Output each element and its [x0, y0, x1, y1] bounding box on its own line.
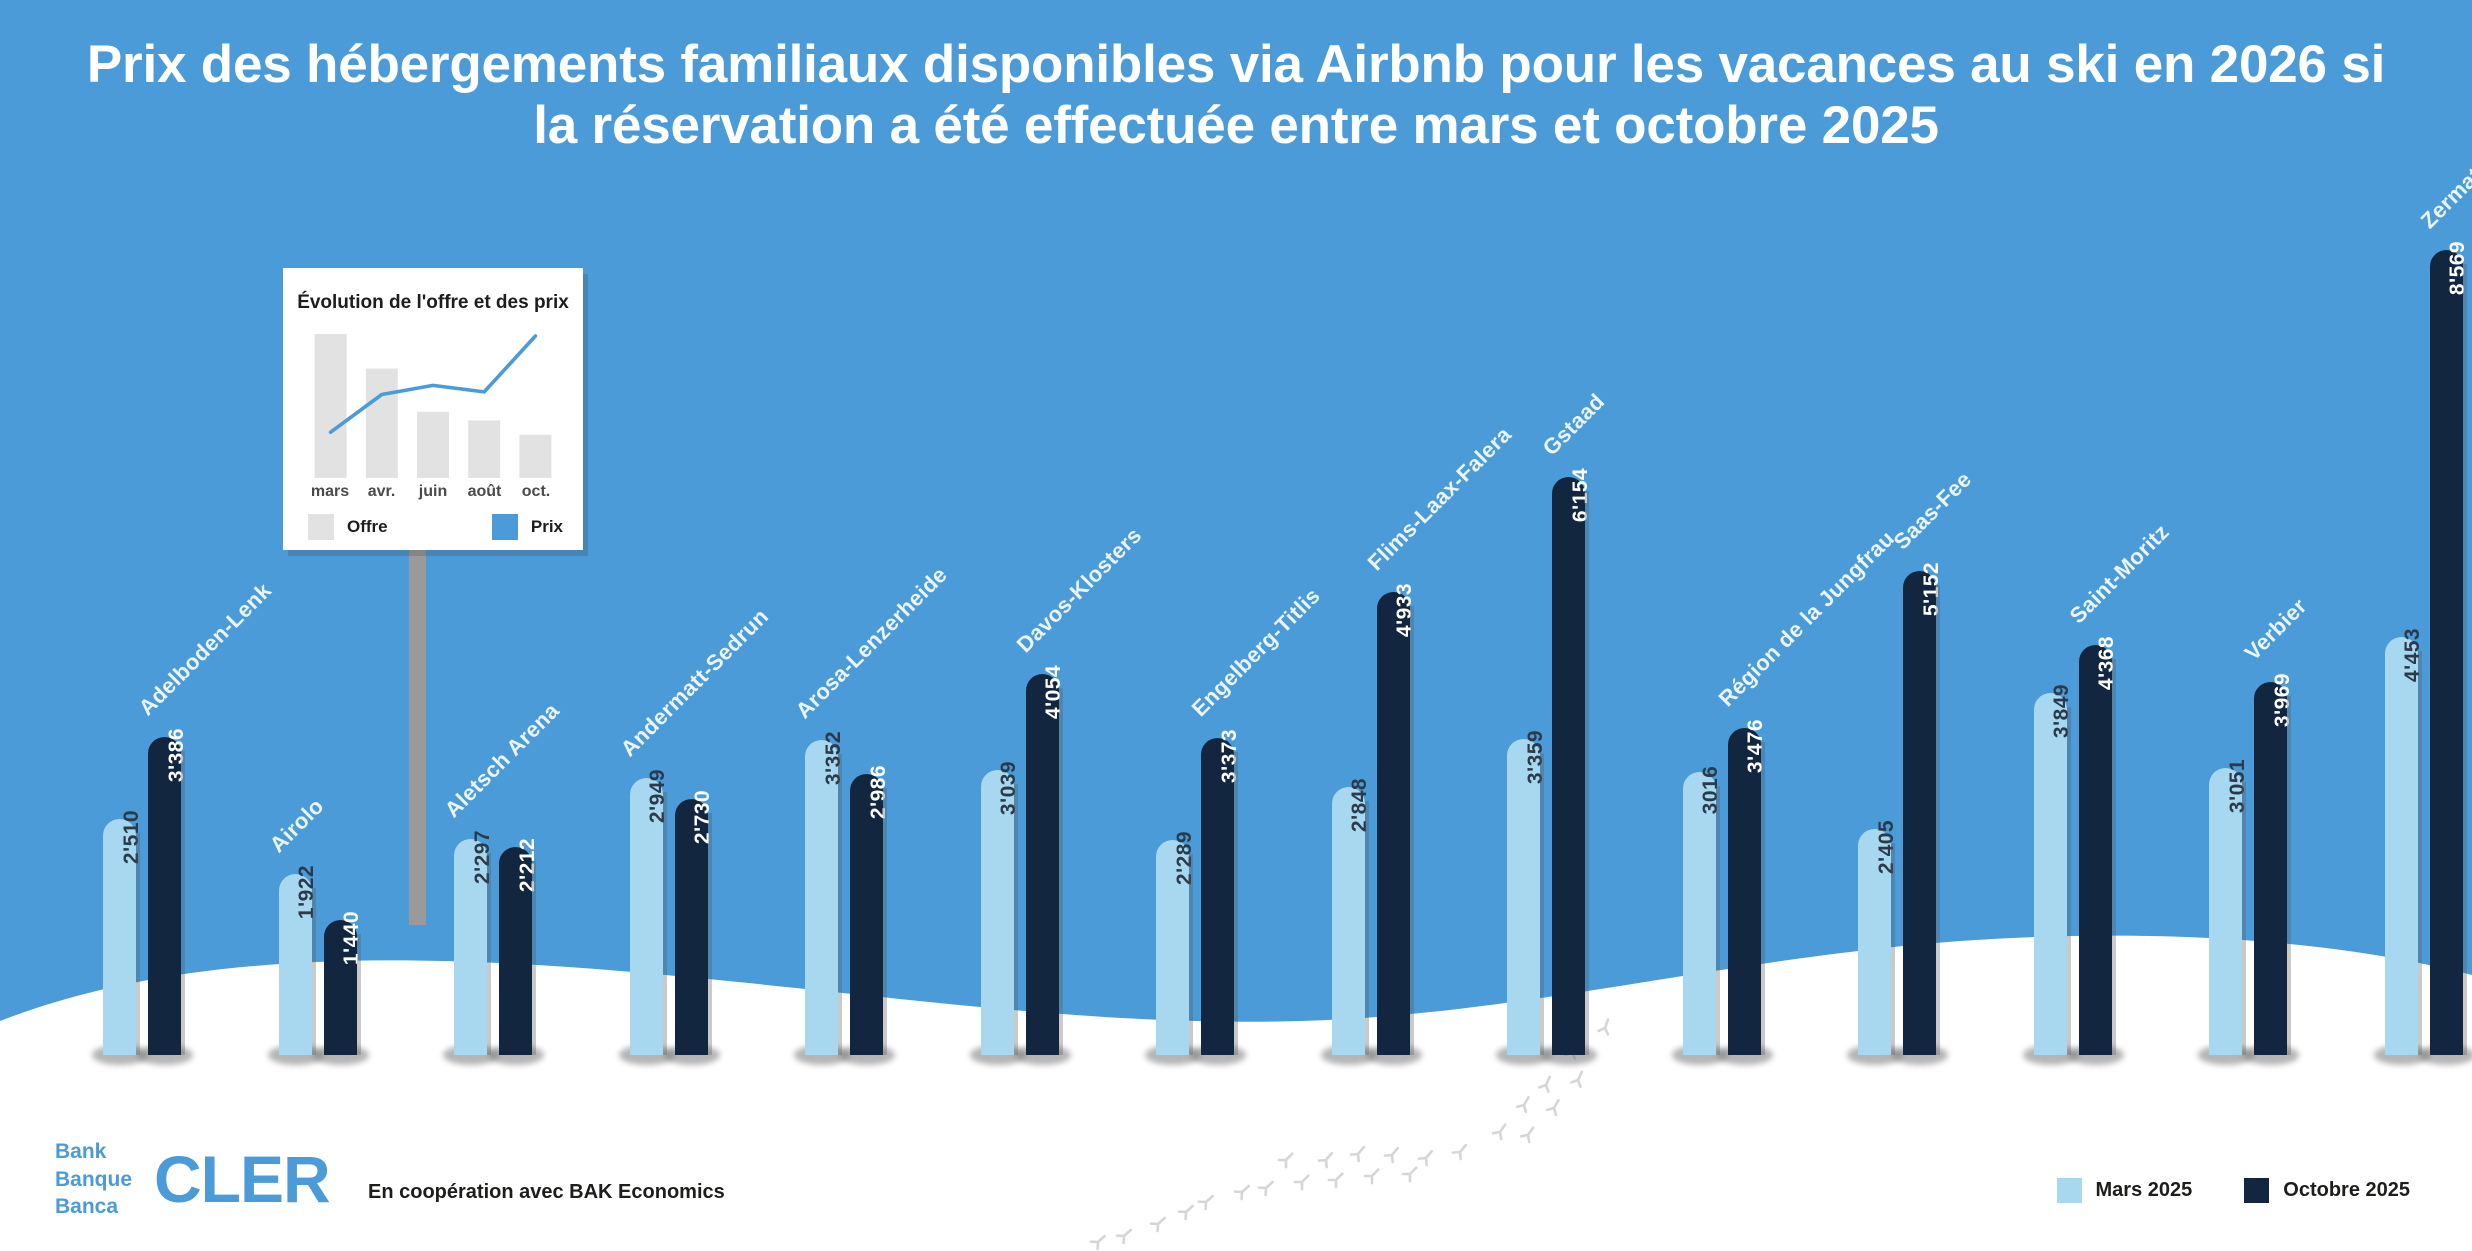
- bar-value-label: 2'405: [1875, 820, 1899, 874]
- bar-octobre-2025[interactable]: 2'212: [499, 847, 532, 1055]
- bar-octobre-2025[interactable]: 8'569: [2430, 250, 2463, 1055]
- bar-octobre-2025[interactable]: 4'933: [1377, 592, 1410, 1055]
- bar-value-label: 2'510: [120, 810, 144, 864]
- inset-legend-item-prix: Prix: [492, 514, 563, 540]
- bar-group: 2'8484'933Flims-Laax-Falera: [1332, 0, 1422, 1251]
- inset-x-tick-label: mars: [305, 483, 355, 501]
- bar-value-label: 4'453: [2401, 628, 2425, 682]
- bar-octobre-2025[interactable]: 3'373: [1201, 738, 1234, 1055]
- inset-legend: Offre Prix: [308, 514, 563, 540]
- bar-value-label: 4'933: [1393, 583, 1417, 637]
- inset-bar: [366, 369, 398, 478]
- inset-bar: [519, 435, 551, 478]
- logo-languages: Bank Banque Banca: [55, 1138, 132, 1221]
- logo-line-banca: Banca: [55, 1193, 132, 1221]
- bar-value-label: 2'848: [1348, 778, 1372, 832]
- destination-label: Saas-Fee: [1889, 467, 1977, 555]
- bar-mars-2025[interactable]: 2'949: [630, 778, 663, 1055]
- bar-mars-2025[interactable]: 2'405: [1858, 829, 1891, 1055]
- bar-value-label: 6'154: [1569, 468, 1593, 522]
- destination-label: Flims-Laax-Falera: [1362, 422, 1516, 576]
- inset-bar: [468, 420, 500, 478]
- destination-label: Gstaad: [1538, 389, 1610, 461]
- bar-value-label: 3'476: [1744, 719, 1768, 773]
- bar-group: 2'4055'152Saas-Fee: [1858, 0, 1948, 1251]
- legend-label-octobre-2025: Octobre 2025: [2283, 1179, 2410, 1202]
- bar-octobre-2025[interactable]: 6'154: [1552, 477, 1585, 1055]
- bar-value-label: 2'212: [516, 838, 540, 892]
- bar-mars-2025[interactable]: 2'848: [1332, 787, 1365, 1055]
- logo-line-bank: Bank: [55, 1138, 132, 1166]
- bar-group: 3'3522'986Arosa-Lenzerheide: [805, 0, 895, 1251]
- bar-octobre-2025[interactable]: 4'368: [2079, 645, 2112, 1055]
- legend-label-mars-2025: Mars 2025: [2096, 1179, 2193, 1202]
- logo-line-banque: Banque: [55, 1166, 132, 1194]
- destination-label: Andermatt-Sedrun: [615, 604, 773, 762]
- bar-octobre-2025[interactable]: 5'152: [1903, 571, 1936, 1055]
- bar-value-label: 3'969: [2271, 673, 2295, 727]
- bar-value-label: 2'297: [471, 830, 495, 884]
- bar-mars-2025[interactable]: 3'051: [2209, 768, 2242, 1055]
- legend-swatch-mars-2025: [2057, 1178, 2082, 1203]
- bar-value-label: 3'373: [1218, 729, 1242, 783]
- chart-legend: Mars 2025 Octobre 2025: [2057, 1178, 2410, 1203]
- bar-chart-plot: 2'5103'386Adelboden-Lenk1'9221'440Airolo…: [0, 0, 2472, 1251]
- bar-group: 3'0394'054Davos-Klosters: [981, 0, 1071, 1251]
- bar-value-label: 4'368: [2095, 636, 2119, 690]
- inset-chart-graphic: [305, 328, 561, 478]
- bar-group: 2'9492'730Andermatt-Sedrun: [630, 0, 720, 1251]
- bar-value-label: 1'922: [295, 865, 319, 919]
- bar-value-label: 5'152: [1920, 562, 1944, 616]
- bar-mars-2025[interactable]: 3'849: [2034, 693, 2067, 1055]
- destination-label: Arosa-Lenzerheide: [791, 562, 953, 724]
- logo-wordmark: CLER: [154, 1141, 330, 1217]
- bar-group: 2'2893'373Engelberg-Titlis: [1156, 0, 1246, 1251]
- bar-octobre-2025[interactable]: 2'730: [675, 799, 708, 1055]
- bar-octobre-2025[interactable]: 1'440: [324, 920, 357, 1055]
- bar-mars-2025[interactable]: 2'289: [1156, 840, 1189, 1055]
- bar-value-label: 3016: [1699, 766, 1723, 815]
- legend-item-mars-2025: Mars 2025: [2057, 1178, 2193, 1203]
- bar-mars-2025[interactable]: 1'922: [279, 874, 312, 1055]
- bar-mars-2025[interactable]: 3'359: [1507, 739, 1540, 1055]
- legend-item-octobre-2025: Octobre 2025: [2244, 1178, 2410, 1203]
- inset-bar: [417, 412, 449, 478]
- inset-x-tick-label: juin: [408, 483, 458, 501]
- bar-group: 2'2972'212Aletsch Arena: [454, 0, 544, 1251]
- destination-label: Airolo: [264, 793, 329, 858]
- destination-label: Adelboden-Lenk: [134, 578, 277, 721]
- bar-octobre-2025[interactable]: 3'386: [148, 737, 181, 1055]
- bar-mars-2025[interactable]: 3016: [1683, 772, 1716, 1055]
- destination-label: Zermatt: [2415, 157, 2472, 234]
- bar-value-label: 2'730: [691, 790, 715, 844]
- bar-value-label: 3'849: [2050, 684, 2074, 738]
- bar-value-label: 2'949: [646, 769, 670, 823]
- inset-legend-label-prix: Prix: [531, 517, 563, 537]
- destination-label: Engelberg-Titlis: [1187, 583, 1326, 722]
- cooperation-note: En coopération avec BAK Economics: [368, 1181, 725, 1204]
- inset-x-tick-label: oct.: [511, 483, 561, 501]
- bar-value-label: 3'352: [822, 731, 846, 785]
- bar-value-label: 3'386: [165, 728, 189, 782]
- inset-legend-swatch-offre: [308, 514, 334, 540]
- bar-mars-2025[interactable]: 2'510: [103, 819, 136, 1055]
- legend-swatch-octobre-2025: [2244, 1178, 2269, 1203]
- inset-legend-swatch-prix: [492, 514, 518, 540]
- bar-value-label: 3'039: [997, 761, 1021, 815]
- bar-value-label: 3'051: [2226, 759, 2250, 813]
- bar-value-label: 2'986: [867, 765, 891, 819]
- bar-group: 3'3596'154Gstaad: [1507, 0, 1597, 1251]
- bar-value-label: 3'359: [1524, 730, 1548, 784]
- bar-value-label: 8'569: [2446, 241, 2470, 295]
- bar-mars-2025[interactable]: 3'352: [805, 740, 838, 1055]
- cler-logo: Bank Banque Banca CLER: [55, 1138, 330, 1221]
- inset-x-tick-label: août: [460, 483, 510, 501]
- inset-sign-panel: Évolution de l'offre et des prix marsavr…: [283, 268, 583, 550]
- bar-group: 3'0513'969Verbier: [2209, 0, 2299, 1251]
- bar-octobre-2025[interactable]: 3'476: [1728, 728, 1761, 1055]
- inset-legend-item-offre: Offre: [308, 514, 388, 540]
- destination-label: Saint-Moritz: [2064, 519, 2174, 629]
- bar-mars-2025[interactable]: 3'039: [981, 770, 1014, 1055]
- bar-value-label: 2'289: [1173, 831, 1197, 885]
- bar-octobre-2025[interactable]: 3'969: [2254, 682, 2287, 1055]
- bar-group: 1'9221'440Airolo: [279, 0, 369, 1251]
- inset-chart-title: Évolution de l'offre et des prix: [283, 292, 583, 314]
- inset-bar: [315, 334, 347, 478]
- inset-legend-label-offre: Offre: [347, 517, 388, 537]
- bar-group: 2'5103'386Adelboden-Lenk: [103, 0, 193, 1251]
- bar-mars-2025[interactable]: 4'453: [2385, 637, 2418, 1055]
- sign-post: [409, 540, 426, 925]
- bar-group: 4'4538'569Zermatt: [2385, 0, 2472, 1251]
- bar-value-label: 1'440: [340, 911, 364, 965]
- inset-x-tick-label: avr.: [357, 483, 407, 501]
- destination-label: Verbier: [2240, 593, 2313, 666]
- bar-group: 3'8494'368Saint-Moritz: [2034, 0, 2124, 1251]
- bar-group: 30163'476Région de la Jungfrau: [1683, 0, 1773, 1251]
- bar-value-label: 4'054: [1042, 665, 1066, 719]
- bar-octobre-2025[interactable]: 4'054: [1026, 674, 1059, 1055]
- inset-x-axis-labels: marsavr.juinaoûtoct.: [305, 483, 561, 501]
- bar-octobre-2025[interactable]: 2'986: [850, 774, 883, 1055]
- destination-label: Davos-Klosters: [1011, 523, 1146, 658]
- bar-mars-2025[interactable]: 2'297: [454, 839, 487, 1055]
- destination-label: Aletsch Arena: [440, 698, 565, 823]
